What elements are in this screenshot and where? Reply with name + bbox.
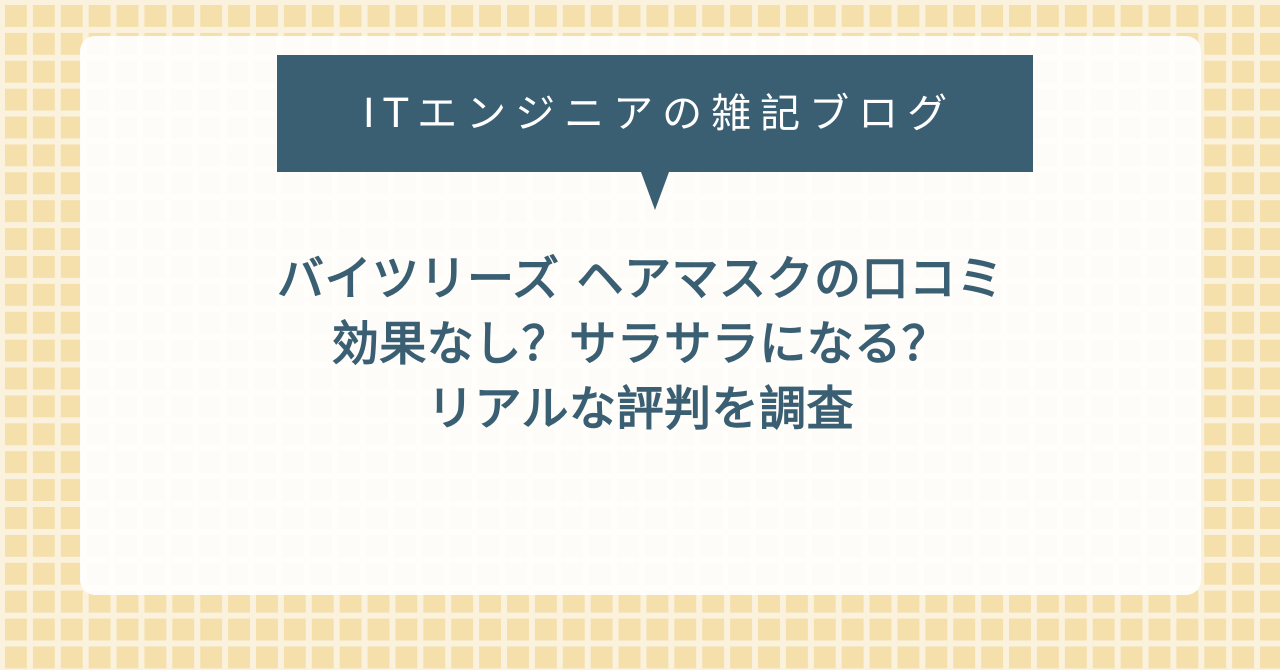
blog-name-label: ITエンジニアの雑記ブログ	[354, 94, 956, 134]
page-title-line-1: バイツリーズ ヘアマスクの口コミ	[80, 247, 1201, 312]
page-title: バイツリーズ ヘアマスクの口コミ 効果なし？サラサラになる？ リアルな評判を調査	[80, 247, 1201, 442]
banner-body: ITエンジニアの雑記ブログ	[277, 55, 1033, 172]
eyecatch-canvas: ITエンジニアの雑記ブログ バイツリーズ ヘアマスクの口コミ 効果なし？サラサラ…	[0, 0, 1280, 670]
speech-bubble-tail-icon	[641, 172, 669, 210]
page-title-line-3: リアルな評判を調査	[80, 377, 1201, 442]
blog-name-banner: ITエンジニアの雑記ブログ	[277, 55, 1033, 172]
page-title-line-2: 効果なし？サラサラになる？	[80, 312, 1201, 377]
